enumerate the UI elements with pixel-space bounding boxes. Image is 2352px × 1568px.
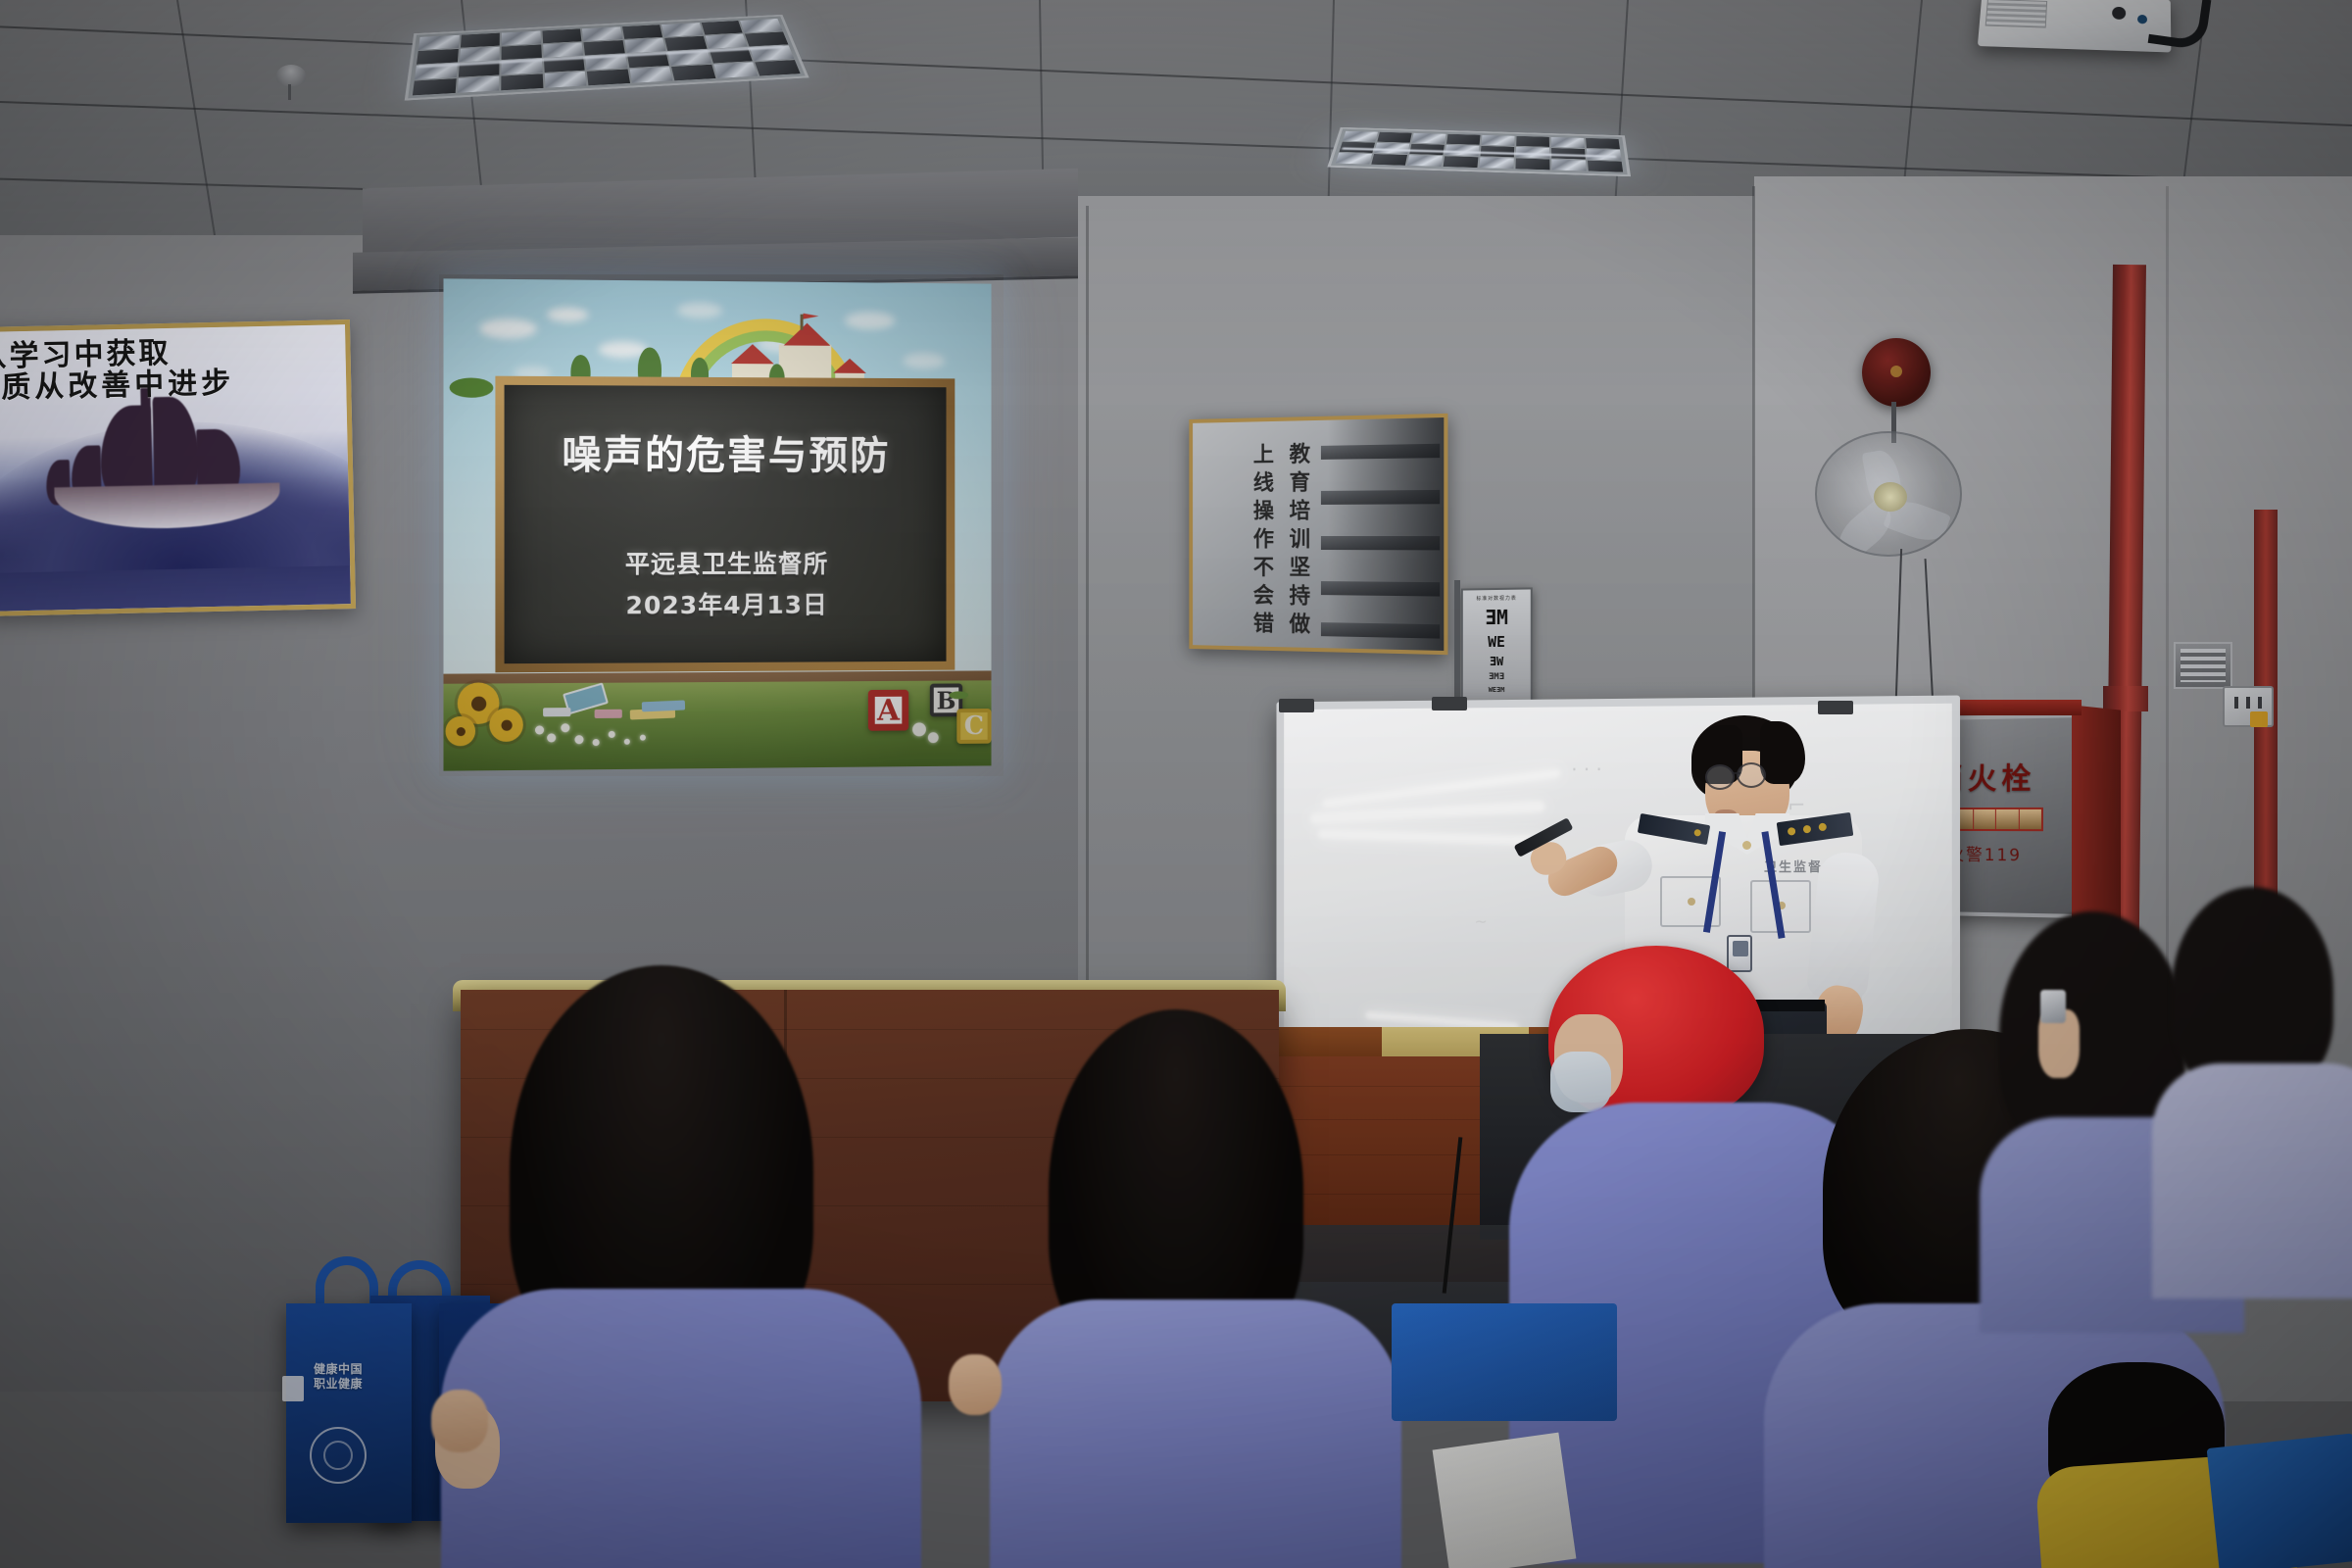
mobile-phone-icon: [2040, 990, 2066, 1023]
wall-poster-ship: 从学习中获取 素质从改善中进步: [0, 319, 356, 616]
eye-chart-row: ƎW: [1463, 655, 1531, 668]
calligraphy-column-1: 教育培训坚持做: [1283, 442, 1313, 641]
audience-hand: [949, 1354, 1002, 1415]
tote-bag: 健康中国 职业健康: [286, 1303, 412, 1523]
slide-organization: 平远县卫生监督所: [505, 545, 947, 581]
ceiling-light-fixture: [1327, 127, 1631, 176]
training-room-photo: 从学习中获取 素质从改善中进步: [0, 0, 2352, 1568]
audience-member: [2019, 970, 2215, 1264]
audience-uniform: [990, 1299, 1401, 1568]
audience-uniform: [441, 1289, 921, 1568]
poster-text: 从学习中获取 素质从改善中进步: [0, 334, 356, 406]
wall-fan: [1815, 431, 1962, 557]
slide-date: 2023年4月13日: [505, 585, 947, 621]
eye-chart-row: WE: [1463, 633, 1531, 651]
audience-member: [421, 965, 1009, 1568]
blue-bag-foreground: [1392, 1303, 1617, 1421]
tote-bag-emblem: [310, 1427, 367, 1484]
ceiling-projector: [1978, 0, 2172, 52]
smoke-detector-icon: [276, 65, 306, 86]
eye-chart-title: 标准对数视力表: [1463, 594, 1531, 602]
warning-sticker: [2250, 711, 2268, 727]
alphabet-block-c: C: [956, 709, 991, 744]
alphabet-block-a: A: [868, 690, 908, 731]
pipe-joint: [2103, 686, 2148, 711]
bag-logo-mark: [282, 1376, 304, 1401]
sunflower-decoration: [464, 688, 494, 717]
eye-chart-row: ƎM: [1463, 606, 1531, 630]
paper-sheet: [1433, 1433, 1577, 1568]
projection-screen: 噪声的危害与预防 平远县卫生监督所 2023年4月13日 A B C: [444, 278, 992, 770]
blue-bag-foreground: [2207, 1434, 2352, 1568]
slide-blackboard: 噪声的危害与预防 平远县卫生监督所 2023年4月13日: [495, 376, 955, 673]
vision-test-chart: 标准对数视力表 ƎM WE ƎW ƎMƎ WEƎM: [1461, 587, 1533, 715]
calligraphy-column-2: 上线操作不会错: [1247, 443, 1277, 640]
audience-member: [980, 1009, 1450, 1568]
audience-hand: [431, 1390, 488, 1452]
wall-calligraphy-frame: 教育培训坚持做 上线操作不会错: [1189, 414, 1447, 655]
face-mask-icon: [1550, 1052, 1611, 1112]
alarm-bell-icon: [1862, 338, 1931, 407]
glasses-icon: [1705, 764, 1735, 790]
wall-vent: [2174, 642, 2232, 689]
slide-title: 噪声的危害与预防: [505, 422, 947, 480]
fire-cabinet-side: [2072, 705, 2121, 927]
tote-bag-text: 健康中国 职业健康: [314, 1362, 363, 1392]
